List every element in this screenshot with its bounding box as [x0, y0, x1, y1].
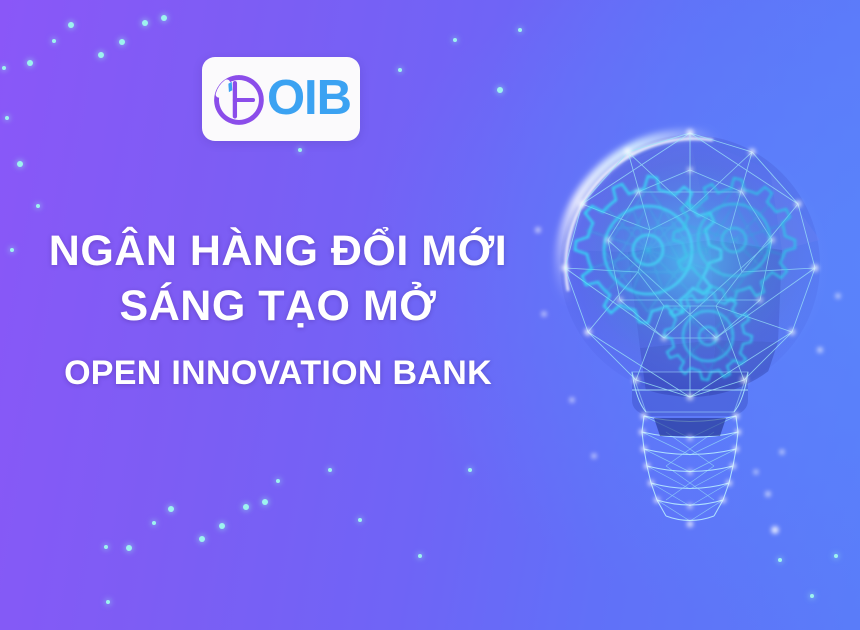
particle-dot	[328, 468, 332, 472]
particle-dot	[17, 161, 23, 167]
lightbulb-illustration	[520, 100, 860, 620]
particle-dot	[262, 499, 268, 505]
particle-dot	[36, 204, 40, 208]
oib-circular-monogram-icon	[211, 72, 267, 128]
particle-dot	[199, 536, 205, 542]
oib-wordmark: OIB	[267, 74, 351, 123]
particle-dot	[152, 521, 156, 525]
particle-dot	[161, 15, 167, 21]
particle-dot	[106, 600, 110, 604]
headline-line-3: OPEN INNOVATION BANK	[0, 353, 556, 394]
oib-logo-badge[interactable]: OIB	[202, 57, 360, 141]
particle-dot	[398, 68, 402, 72]
particle-dot	[219, 523, 225, 529]
headline-line-2: SÁNG TẠO MỞ	[0, 281, 556, 332]
particle-dot	[298, 148, 302, 152]
particle-dot	[468, 468, 472, 472]
particle-dot	[5, 116, 9, 120]
headline-line-1: NGÂN HÀNG ĐỔI MỚI	[0, 226, 556, 277]
promo-banner: OIB NGÂN HÀNG ĐỔI MỚI SÁNG TẠO MỞ OPEN I…	[0, 0, 860, 630]
particle-dot	[119, 39, 125, 45]
particle-dot	[104, 545, 108, 549]
particle-dot	[497, 87, 503, 93]
particle-dot	[168, 506, 174, 512]
particle-dot	[518, 28, 522, 32]
particle-dot	[2, 66, 6, 70]
lightbulb-wireframe-svg	[520, 100, 860, 620]
particle-dot	[243, 504, 249, 510]
particle-dot	[358, 518, 362, 522]
particle-dot	[453, 38, 457, 42]
particle-dot	[142, 20, 148, 26]
particle-dot	[126, 545, 132, 551]
particle-dot	[52, 39, 56, 43]
particle-dot	[276, 479, 280, 483]
particle-dot	[418, 554, 422, 558]
particle-dot	[68, 22, 74, 28]
particle-dot	[98, 52, 104, 58]
particle-dot	[27, 60, 33, 66]
headline-block: NGÂN HÀNG ĐỔI MỚI SÁNG TẠO MỞ OPEN INNOV…	[0, 226, 556, 394]
